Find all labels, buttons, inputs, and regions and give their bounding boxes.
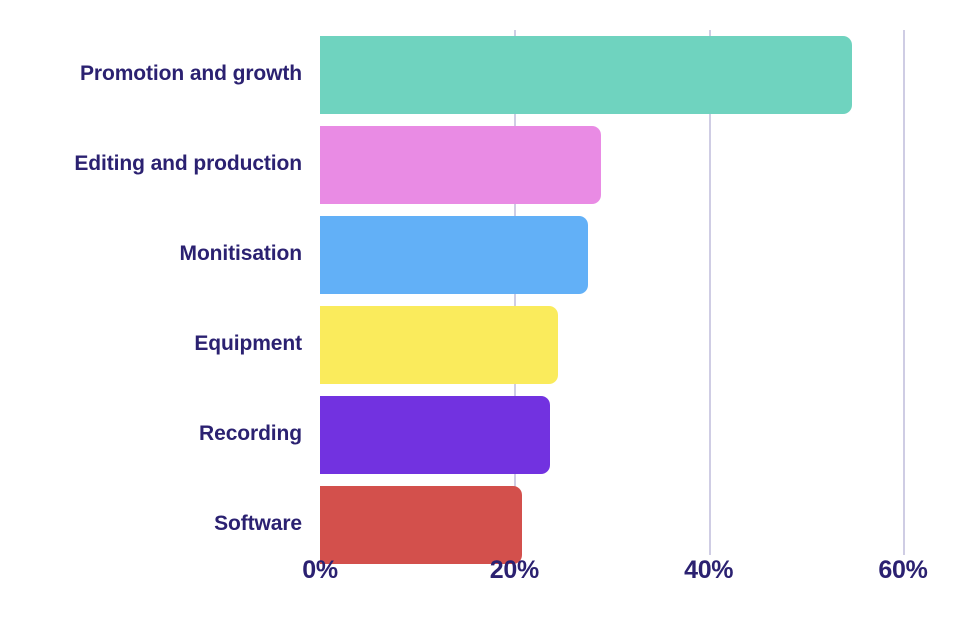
category-label-editing-and-production: Editing and production: [20, 152, 320, 176]
bar-editing-and-production[interactable]: [320, 126, 601, 204]
bar-row: [320, 126, 903, 204]
bar-row: [320, 306, 903, 384]
bar-row: [320, 216, 903, 294]
category-label-recording: Recording: [20, 422, 320, 446]
bar-recording[interactable]: [320, 396, 550, 474]
gridline-60pct: [903, 30, 905, 555]
bar-monitisation[interactable]: [320, 216, 588, 294]
bar-row: [320, 36, 903, 114]
x-tick-label-60pct: 60%: [878, 556, 927, 585]
bar-chart: Promotion and growthEditing and producti…: [0, 0, 960, 620]
x-tick-label-20pct: 20%: [490, 556, 539, 585]
x-tick-label-0pct: 0%: [302, 556, 338, 585]
category-label-promotion-and-growth: Promotion and growth: [20, 62, 320, 86]
plot-area: [320, 30, 903, 555]
bar-promotion-and-growth[interactable]: [320, 36, 852, 114]
x-tick-label-40pct: 40%: [684, 556, 733, 585]
category-label-equipment: Equipment: [20, 332, 320, 356]
category-label-monitisation: Monitisation: [20, 242, 320, 266]
category-label-software: Software: [20, 512, 320, 536]
bar-software[interactable]: [320, 486, 522, 564]
category-axis: Promotion and growthEditing and producti…: [0, 30, 320, 555]
bar-row: [320, 396, 903, 474]
value-axis: 0%20%40%60%: [0, 556, 960, 596]
bar-equipment[interactable]: [320, 306, 558, 384]
bar-row: [320, 486, 903, 564]
